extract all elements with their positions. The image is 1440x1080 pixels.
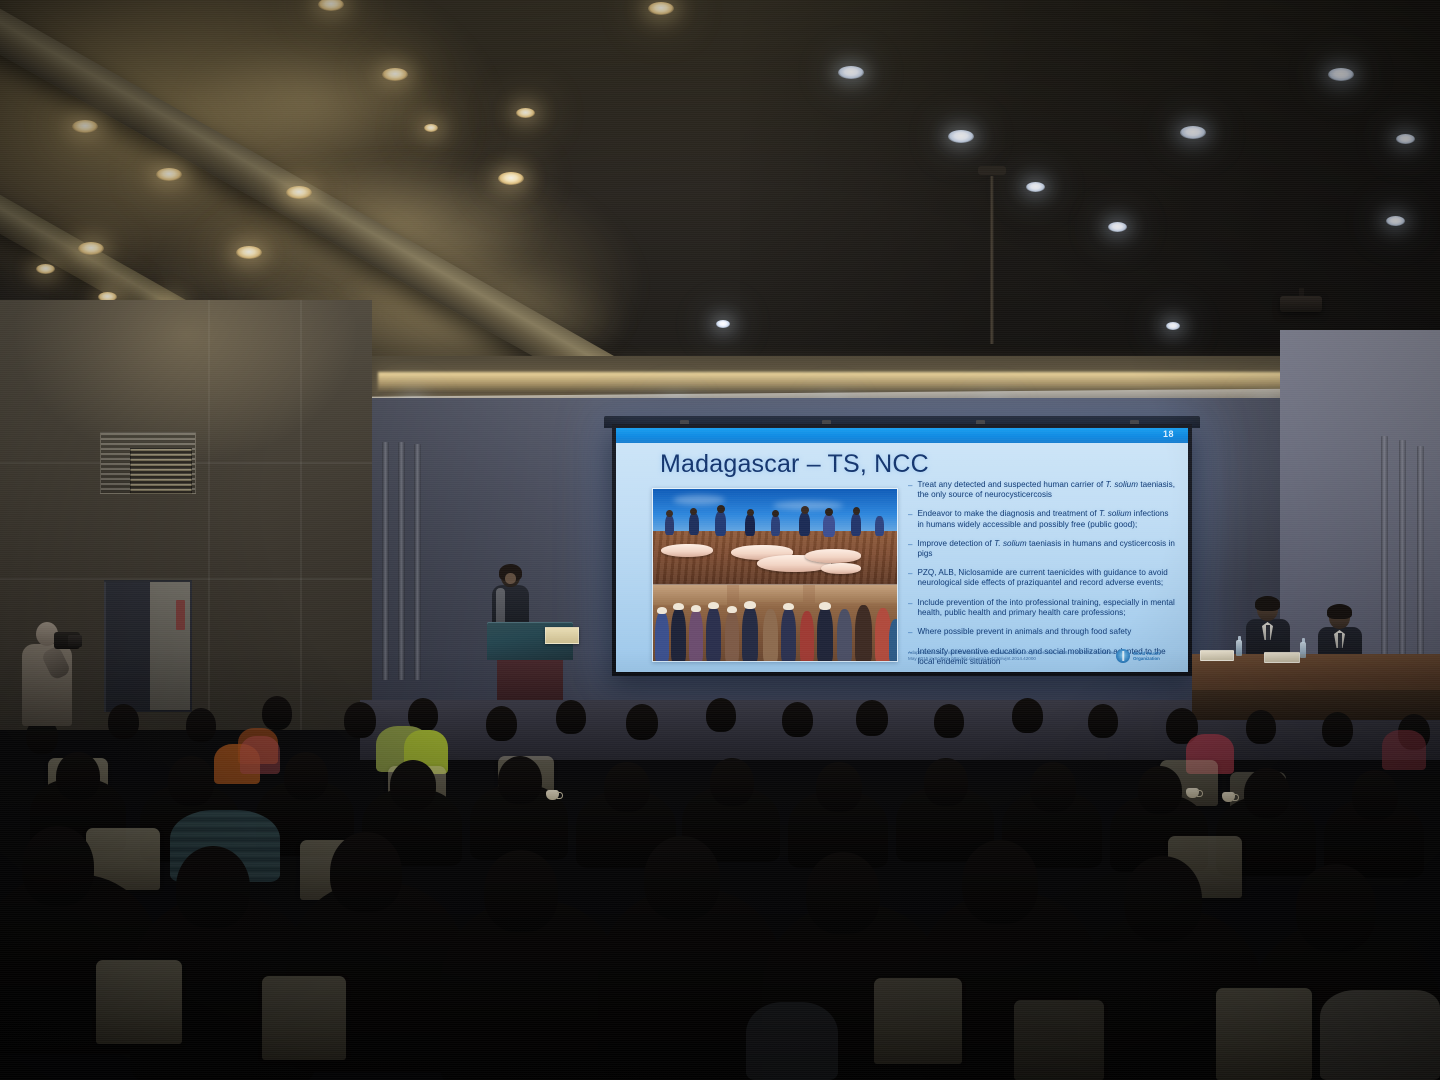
- audience-head: [344, 702, 376, 738]
- bullet-text: Treat any detected and suspected human c…: [917, 480, 1176, 500]
- audience-head: [1012, 698, 1043, 733]
- photo-cloud: [673, 495, 725, 505]
- crowd-person: [706, 606, 721, 661]
- bullet-marker: –: [908, 598, 912, 618]
- audience-head: [1088, 704, 1118, 738]
- ceiling-downlight: [72, 120, 98, 133]
- audience-head: [186, 708, 216, 742]
- audience-head: [1322, 712, 1353, 747]
- bullet-text: Endeavor to make the diagnosis and treat…: [917, 509, 1176, 529]
- wall-flute: [382, 442, 389, 680]
- photo-person: [689, 513, 699, 535]
- ceiling-downlight: [36, 264, 55, 274]
- wall-vent-inner: [130, 448, 192, 494]
- audience-clothing: [746, 1002, 838, 1080]
- audience-head: [1352, 770, 1398, 820]
- ceiling-downlight: [516, 108, 535, 118]
- audience-seating: [0, 660, 1440, 1080]
- audience-head: [168, 756, 214, 806]
- audience-head: [108, 704, 139, 739]
- ceiling-downlight: [716, 320, 730, 328]
- slide-header-bar: [616, 428, 1188, 443]
- audience-head: [710, 758, 754, 806]
- presenter-scarf: [496, 588, 505, 626]
- bullet-text: Include prevention of the into professio…: [917, 598, 1176, 618]
- audience-head: [1244, 768, 1290, 818]
- bullet-item: – Treat any detected and suspected human…: [908, 480, 1176, 500]
- audience-head: [962, 840, 1038, 924]
- bullet-marker: –: [908, 509, 912, 529]
- audience-head: [644, 836, 720, 920]
- pig: [661, 544, 713, 557]
- audience-head: [486, 706, 517, 741]
- bullet-marker: –: [908, 568, 912, 588]
- ceiling-downlight: [78, 242, 104, 255]
- crowd-hat: [657, 607, 667, 614]
- audience-head: [1296, 864, 1376, 952]
- bullet-text: Improve detection of T. solium taeniasis…: [917, 539, 1176, 559]
- crowd-person: [817, 606, 833, 661]
- audience-head: [1124, 856, 1202, 942]
- audience-clothing: [1382, 730, 1426, 770]
- audience-head: [262, 696, 292, 730]
- audience-clothing: [1320, 990, 1440, 1080]
- panelist-left: [1246, 598, 1290, 656]
- photo-person-head: [666, 510, 673, 517]
- wall-flute: [398, 442, 405, 680]
- ceiling-downlight: [1166, 322, 1180, 330]
- ceiling-downlight: [1396, 134, 1415, 144]
- audience-head: [706, 698, 736, 732]
- bullet-text: Where possible prevent in animals and th…: [917, 627, 1131, 638]
- crowd-person: [655, 611, 669, 661]
- pigs-on-ground-photo: [653, 489, 897, 584]
- audience-head: [22, 826, 94, 906]
- teacup: [1222, 792, 1235, 802]
- crowd-hat: [819, 602, 831, 610]
- photo-building: [815, 585, 897, 603]
- audience-head: [856, 700, 888, 736]
- audience-head: [604, 762, 650, 812]
- panelist-tie: [1266, 625, 1270, 640]
- bullet-marker: –: [908, 539, 912, 559]
- audience-head: [56, 752, 100, 800]
- audience-head: [626, 704, 658, 740]
- crowd-person: [781, 607, 796, 661]
- pig: [821, 563, 861, 574]
- photo-person-head: [717, 505, 725, 513]
- photo-person-head: [853, 507, 860, 515]
- door-sign: [176, 600, 185, 630]
- crowd-hat: [708, 602, 719, 609]
- chair-back: [96, 960, 182, 1044]
- teacup: [1186, 788, 1199, 798]
- water-bottle: [1300, 642, 1306, 658]
- panelist-hair: [1255, 596, 1280, 611]
- crowd-hat: [727, 606, 737, 613]
- audience-clothing: [240, 736, 280, 774]
- bullet-marker: –: [908, 627, 912, 638]
- slide-bullet-list: – Treat any detected and suspected human…: [908, 480, 1176, 672]
- ceiling-shadow-right: [740, 0, 1440, 372]
- ceiling-downlight: [948, 130, 974, 143]
- crowd-hat: [744, 601, 756, 609]
- ceiling-pole: [990, 176, 994, 344]
- chair-back: [1014, 1000, 1104, 1080]
- bullet-text: PZQ, ALB, Niclosamide are current taenic…: [917, 568, 1176, 588]
- camera-lens-icon: [68, 635, 82, 647]
- pig: [805, 549, 861, 563]
- audience-head: [1246, 710, 1276, 744]
- photo-person: [823, 514, 835, 537]
- projector-mount: [1280, 296, 1322, 312]
- bullet-marker: –: [908, 480, 912, 500]
- audience-head: [816, 762, 862, 812]
- crowd-person: [800, 611, 814, 661]
- audience-head: [498, 756, 542, 804]
- photo-person: [875, 516, 884, 536]
- bullet-item: – Endeavor to make the diagnosis and tre…: [908, 509, 1176, 529]
- audience-head: [330, 832, 402, 912]
- audience-head: [782, 702, 813, 737]
- photographer: [18, 622, 80, 726]
- crowd-person: [763, 609, 778, 661]
- panelist-hair: [1327, 604, 1352, 619]
- photo-person-head: [801, 506, 809, 514]
- crowd-person: [671, 607, 686, 661]
- photo-person: [715, 511, 726, 536]
- ceiling-downlight: [1328, 68, 1354, 81]
- ceiling-downlight: [498, 172, 524, 185]
- ceiling-downlight: [648, 2, 674, 15]
- photo-building: [739, 585, 803, 602]
- projection-screen[interactable]: 18 Madagascar – TS, NCC: [612, 424, 1192, 676]
- audience-head: [924, 758, 968, 806]
- wall-flute: [414, 444, 421, 680]
- crowd-person: [837, 609, 852, 661]
- audience-head: [934, 704, 964, 738]
- bullet-item: – PZQ, ALB, Niclosamide are current taen…: [908, 568, 1176, 588]
- ceiling-downlight: [286, 186, 312, 199]
- audience-head: [806, 852, 880, 934]
- photo-person: [665, 515, 674, 535]
- presenter-face: [505, 573, 516, 584]
- crowd-person: [889, 619, 897, 661]
- photo-person-head: [825, 508, 833, 516]
- chair-back: [262, 976, 346, 1060]
- photo-person: [799, 512, 810, 536]
- bullet-item: – Where possible prevent in animals and …: [908, 627, 1176, 638]
- ceiling-downlight: [156, 168, 182, 181]
- bullet-item: – Improve detection of T. solium taenias…: [908, 539, 1176, 559]
- crowd-person: [689, 609, 703, 661]
- photo-person: [745, 514, 755, 536]
- audience-head: [484, 850, 558, 932]
- audience-head: [1138, 766, 1182, 814]
- ceiling-downlight: [1386, 216, 1405, 226]
- conference-hall-scene: 18 Madagascar – TS, NCC: [0, 0, 1440, 1080]
- crowd-hat: [673, 603, 684, 610]
- chair-back: [1216, 988, 1312, 1080]
- bullet-item: – Include prevention of the into profess…: [908, 598, 1176, 618]
- teacup: [546, 790, 559, 800]
- photo-person-head: [690, 508, 697, 515]
- audience-head: [284, 752, 328, 800]
- ceiling-downlight: [1108, 222, 1127, 232]
- audience-head: [556, 700, 586, 734]
- presentation-slide: 18 Madagascar – TS, NCC: [616, 428, 1188, 672]
- ceiling-downlight: [424, 124, 438, 132]
- audience-head: [176, 846, 250, 928]
- crowd-person: [855, 605, 872, 661]
- water-bottle: [1236, 640, 1242, 656]
- crowd-person: [742, 605, 758, 661]
- podium-sign: [545, 627, 579, 644]
- slide-page-number: 18: [1163, 429, 1174, 439]
- ceiling-downlight: [382, 68, 408, 81]
- crowd-hat: [783, 603, 794, 610]
- photo-person: [851, 513, 861, 536]
- photo-person: [771, 515, 780, 536]
- chair-back: [874, 978, 962, 1064]
- ceiling-downlight: [1180, 126, 1206, 139]
- photo-person-head: [747, 509, 754, 516]
- ceiling-downlight: [838, 66, 864, 79]
- ceiling-pole-mount: [978, 166, 1006, 175]
- crowd-hat: [691, 605, 701, 612]
- ceiling-downlight: [236, 246, 262, 259]
- village-crowd-photo: [653, 584, 897, 661]
- crowd-person: [725, 610, 739, 661]
- panelist-tie: [1338, 633, 1342, 648]
- slide-photo-group: [652, 488, 898, 662]
- audience-head: [390, 760, 436, 810]
- ceiling-downlight: [1026, 182, 1045, 192]
- slide-title: Madagascar – TS, NCC: [660, 450, 929, 479]
- photo-person-head: [772, 510, 779, 517]
- audience-head: [1030, 762, 1076, 812]
